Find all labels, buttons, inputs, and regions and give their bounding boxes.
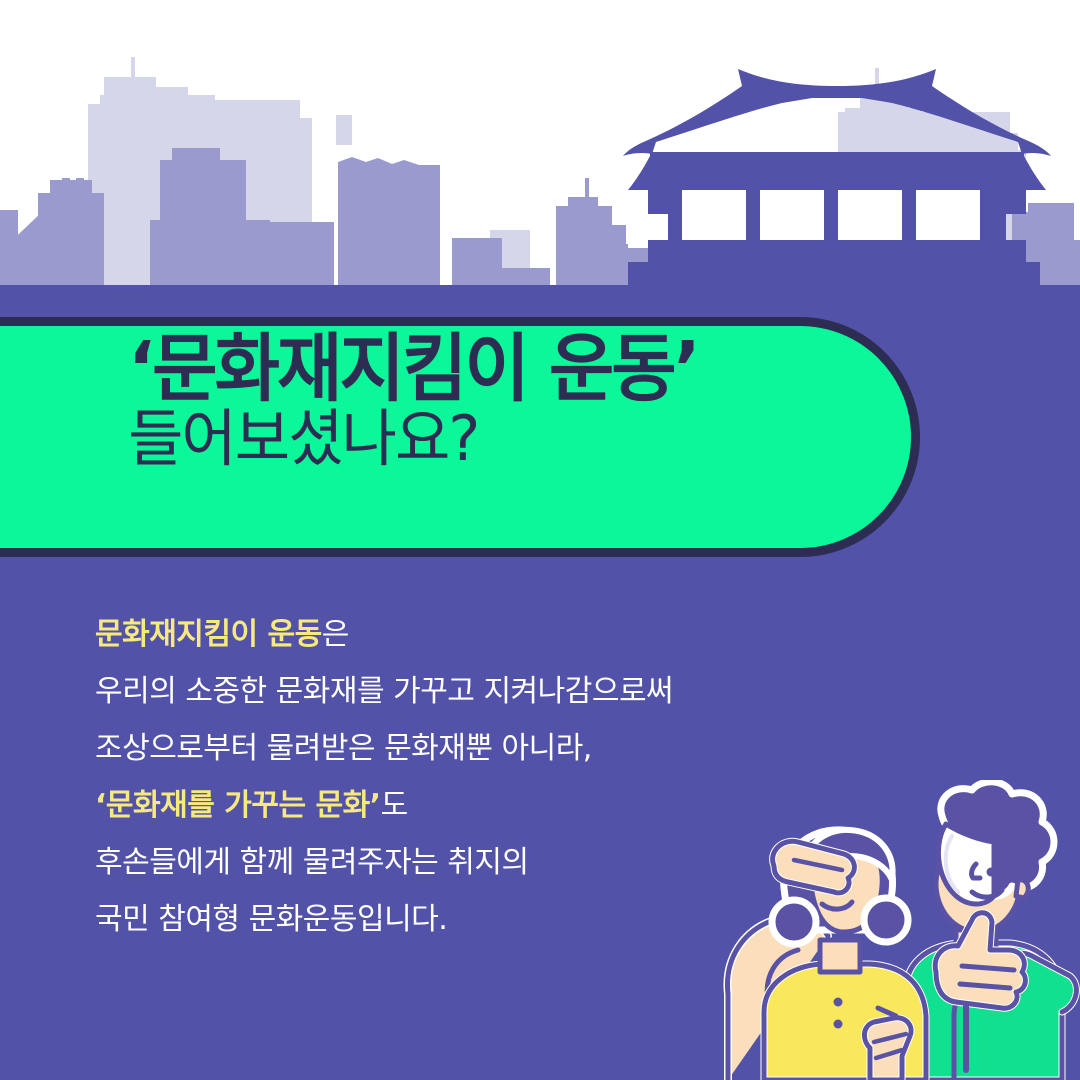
title-banner-text: ‘문화재지킴이 운동’ 들어보셨나요? bbox=[128, 332, 888, 470]
woman-button-bottom bbox=[834, 1020, 843, 1029]
people-illustration bbox=[710, 780, 1080, 1080]
skyline-header bbox=[0, 0, 1080, 285]
title-line-2: 들어보셨나요? bbox=[128, 408, 865, 470]
body-line-3: 조상으로부터 물려받은 문화재뿐 아니라, bbox=[95, 720, 895, 777]
woman-button-top bbox=[834, 998, 843, 1007]
body-line-1-segment-2: 은 bbox=[322, 617, 349, 652]
man-eye-right bbox=[987, 868, 996, 877]
card-news-poster: ‘문화재지킴이 운동’ 들어보셨나요? 문화재지킴이 운동은우리의 소중한 문화… bbox=[0, 0, 1080, 1080]
body-line-4-segment-2: 도 bbox=[381, 788, 408, 823]
body-line-1: 문화재지킴이 운동은 bbox=[95, 606, 895, 663]
body-line-6-segment-1: 국민 참여형 문화운동입니다. bbox=[95, 902, 447, 937]
woman-bun-left bbox=[772, 900, 816, 944]
body-line-2-segment-1: 우리의 소중한 문화재를 가꾸고 지켜나감으로써 bbox=[95, 674, 673, 709]
body-line-5-segment-1: 후손들에게 함께 물려주자는 취지의 bbox=[95, 845, 529, 880]
body-line-2: 우리의 소중한 문화재를 가꾸고 지켜나감으로써 bbox=[95, 663, 895, 720]
figure-man-thumbs-up bbox=[906, 782, 1076, 1080]
body-line-1-segment-1: 문화재지킴이 운동 bbox=[95, 617, 322, 652]
title-line-1: ‘문화재지킴이 운동’ bbox=[128, 332, 858, 406]
body-line-3-segment-1: 조상으로부터 물려받은 문화재뿐 아니라, bbox=[95, 731, 592, 766]
woman-bun-right bbox=[864, 898, 908, 942]
body-line-4-segment-1: ‘문화재를 가꾸는 문화’ bbox=[95, 788, 381, 823]
man-thumbs-up-hand bbox=[935, 913, 1025, 1009]
figure-woman-saluting bbox=[727, 830, 926, 1080]
